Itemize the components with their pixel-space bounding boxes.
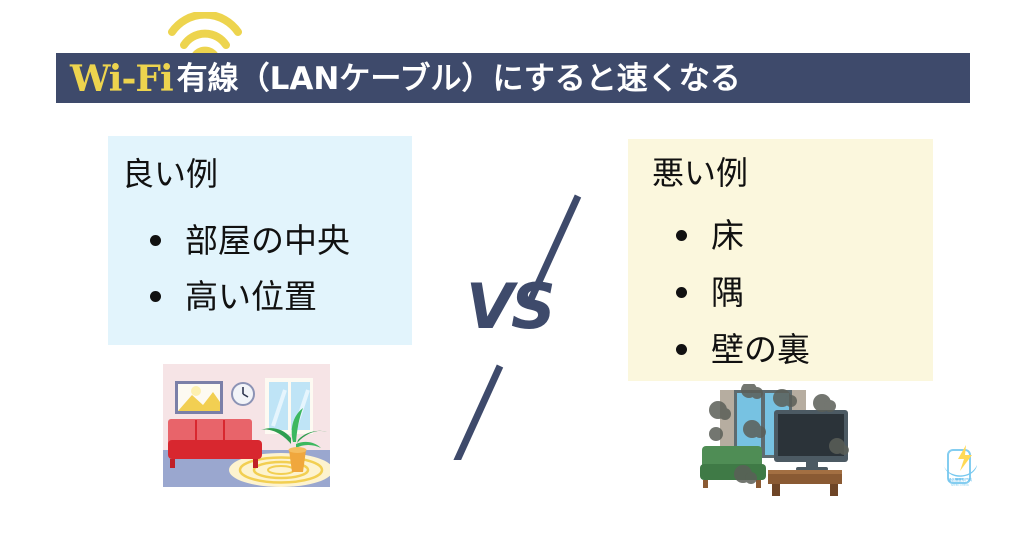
bullet-dot-icon <box>150 235 161 246</box>
wifi-wordmark: Wi-Fi <box>70 61 173 97</box>
good-example-heading: 良い例 <box>122 158 218 190</box>
banner-title-text: 有線（LANケーブル）にすると速くなる <box>177 64 741 95</box>
list-item-label: 高い位置 <box>185 280 317 313</box>
bullet-dot-icon <box>676 344 687 355</box>
watermark-subcaption: SPEED CHECK <box>936 484 984 488</box>
title-banner: Wi-Fi 有線（LANケーブル）にすると速くなる <box>56 53 970 103</box>
dusty-room-illustration <box>694 384 857 496</box>
list-item: 隅 <box>676 264 810 321</box>
watermark-caption: 通信速度専門科 <box>936 478 984 483</box>
list-item: 床 <box>676 207 810 264</box>
list-item: 壁の裏 <box>676 321 810 378</box>
bullet-dot-icon <box>676 287 687 298</box>
list-item-label: 床 <box>711 219 744 252</box>
clean-living-room-illustration <box>163 364 330 487</box>
list-item: 部屋の中央 <box>150 212 350 268</box>
bullet-dot-icon <box>150 291 161 302</box>
list-item-label: 壁の裏 <box>711 333 810 366</box>
list-item-label: 隅 <box>711 276 744 309</box>
vs-label: VS <box>466 276 553 338</box>
bad-example-list: 床 隅 壁の裏 <box>676 207 810 378</box>
bullet-dot-icon <box>676 230 687 241</box>
list-item: 高い位置 <box>150 268 350 324</box>
bad-example-heading: 悪い例 <box>652 157 748 189</box>
list-item-label: 部屋の中央 <box>185 224 350 257</box>
good-example-list: 部屋の中央 高い位置 <box>150 212 350 324</box>
